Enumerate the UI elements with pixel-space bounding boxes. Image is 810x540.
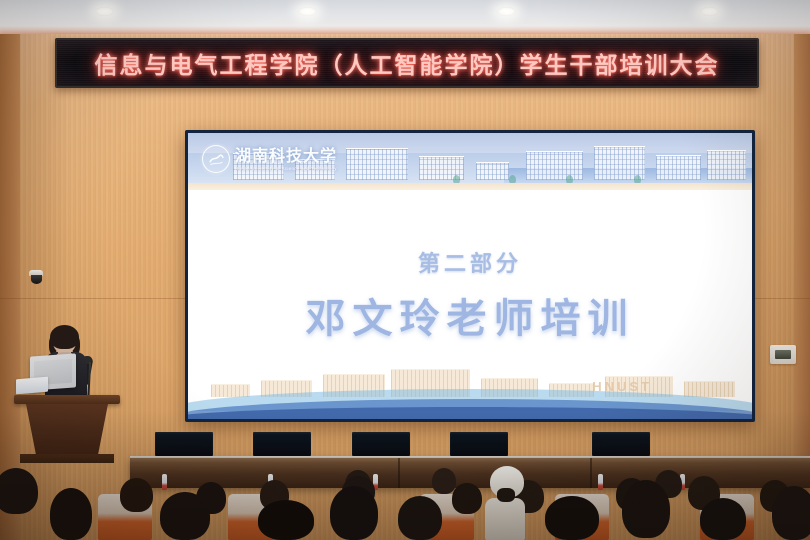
- audience-head: [258, 500, 314, 540]
- head-table-seam-1: [398, 458, 400, 488]
- lectern: [14, 395, 120, 475]
- downlight-1: [95, 7, 114, 16]
- led-banner: 信息与电气工程学院（人工智能学院）学生干部培训大会: [55, 38, 759, 88]
- logo-chinese-name: 湖南科技大学: [235, 148, 337, 164]
- presenter-hair: [50, 325, 79, 349]
- slide-header-band: 湖南科技大学 Hunan University of Science and T…: [188, 133, 752, 190]
- slide-title: 邓文玲老师培训: [188, 286, 752, 344]
- water-bottle: [162, 474, 167, 490]
- paper-sheet: [16, 377, 48, 395]
- audience-head: [700, 498, 746, 540]
- wall-seam-right: [755, 298, 810, 299]
- audience-head: [452, 483, 482, 514]
- downlight-2: [298, 7, 317, 16]
- audience-head: [772, 486, 810, 540]
- logo-english-name: Hunan University of Science and Technolo…: [235, 166, 337, 171]
- audience-head: [398, 496, 442, 540]
- audience-head: [330, 486, 378, 540]
- head-table-seam-2: [590, 458, 592, 488]
- slide-footer: HNUST: [188, 357, 752, 419]
- head-chair-5: [592, 432, 650, 456]
- head-chair-2: [253, 432, 311, 456]
- downlight-3: [497, 7, 516, 16]
- downlight-4: [700, 7, 719, 16]
- security-camera-icon: [28, 270, 44, 284]
- head-chair-3: [352, 432, 410, 456]
- audience-hair-under-cap: [497, 488, 515, 502]
- wall-control-panel-icon[interactable]: [770, 345, 796, 364]
- university-seal-icon: [202, 145, 230, 173]
- audience-head: [160, 492, 210, 540]
- head-chair-1: [155, 432, 213, 456]
- audience-head: [432, 468, 456, 494]
- slide-body: 第二部分 邓文玲老师培训 HNUST: [188, 190, 752, 419]
- head-chair-4: [450, 432, 508, 456]
- audience-head: [0, 468, 38, 514]
- water-bottle: [598, 474, 603, 490]
- audience-body-white: [485, 498, 525, 540]
- slide-subtitle: 第二部分: [188, 246, 752, 278]
- wall-seam-left: [0, 298, 185, 299]
- banner-text: 信息与电气工程学院（人工智能学院）学生干部培训大会: [95, 46, 720, 80]
- photo-scene: 信息与电气工程学院（人工智能学院）学生干部培训大会: [0, 0, 810, 540]
- audience-head: [120, 478, 153, 512]
- audience-head: [545, 496, 599, 540]
- audience-head: [622, 480, 670, 538]
- projection-screen-frame: 湖南科技大学 Hunan University of Science and T…: [185, 130, 755, 422]
- audience-head: [50, 488, 92, 540]
- university-logo: 湖南科技大学 Hunan University of Science and T…: [202, 145, 337, 173]
- projection-screen: 湖南科技大学 Hunan University of Science and T…: [188, 133, 752, 419]
